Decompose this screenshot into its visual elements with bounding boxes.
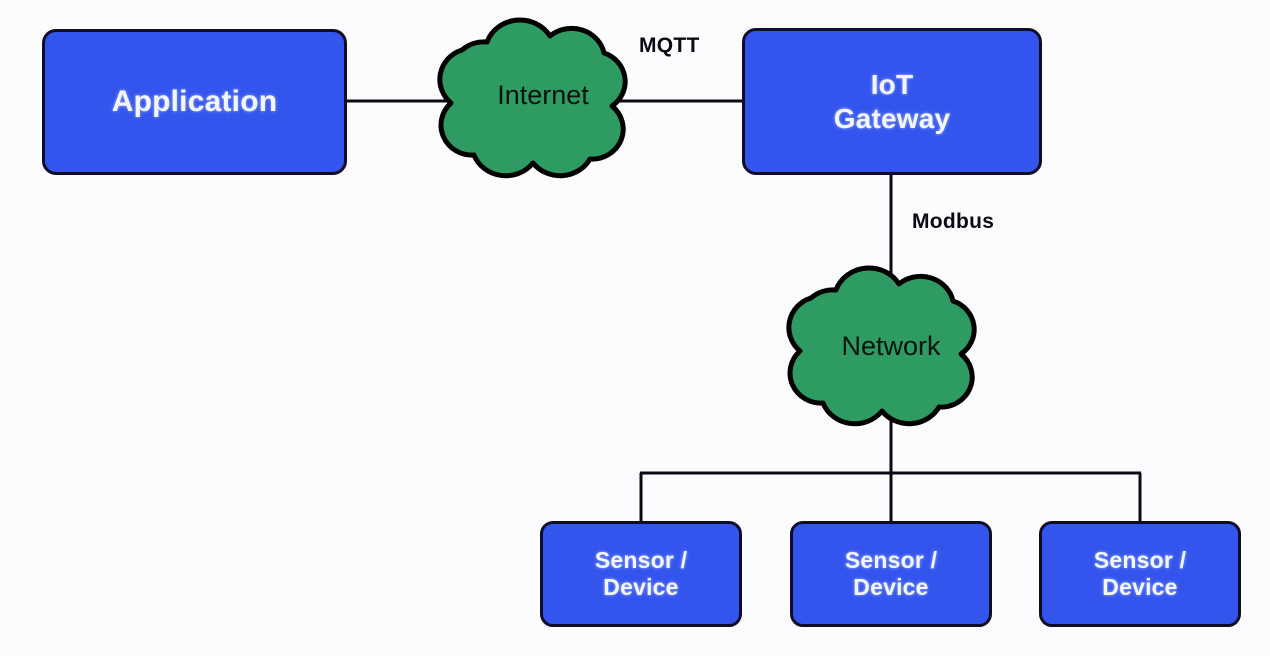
- node-sensor-device-1-label-line1: Sensor /: [595, 547, 687, 573]
- node-sensor-device-3-label-line2: Device: [1102, 574, 1177, 600]
- node-internet-label: Internet: [443, 80, 643, 111]
- edge-label-modbus: Modbus: [912, 210, 994, 234]
- node-application-label: Application: [112, 84, 278, 119]
- node-sensor-device-2-label-line2: Device: [853, 574, 928, 600]
- node-sensor-device-2[interactable]: Sensor / Device: [790, 521, 992, 627]
- node-application[interactable]: Application: [42, 29, 347, 175]
- node-iot-gateway-label-line1: IoT: [871, 69, 914, 100]
- node-sensor-device-2-label: Sensor / Device: [845, 547, 937, 601]
- node-sensor-device-1-label-line2: Device: [603, 574, 678, 600]
- edge-label-mqtt: MQTT: [639, 34, 700, 58]
- node-sensor-device-2-label-line1: Sensor /: [845, 547, 937, 573]
- node-network-label: Network: [790, 331, 992, 362]
- node-iot-gateway-label: IoT Gateway: [834, 68, 951, 134]
- node-sensor-device-1-label: Sensor / Device: [595, 547, 687, 601]
- node-sensor-device-3-label-line1: Sensor /: [1094, 547, 1186, 573]
- node-sensor-device-3[interactable]: Sensor / Device: [1039, 521, 1241, 627]
- diagram-canvas: Application IoT Gateway Internet Network…: [0, 0, 1270, 656]
- node-sensor-device-1[interactable]: Sensor / Device: [540, 521, 742, 627]
- node-iot-gateway-label-line2: Gateway: [834, 103, 951, 134]
- node-iot-gateway[interactable]: IoT Gateway: [742, 28, 1042, 175]
- node-sensor-device-3-label: Sensor / Device: [1094, 547, 1186, 601]
